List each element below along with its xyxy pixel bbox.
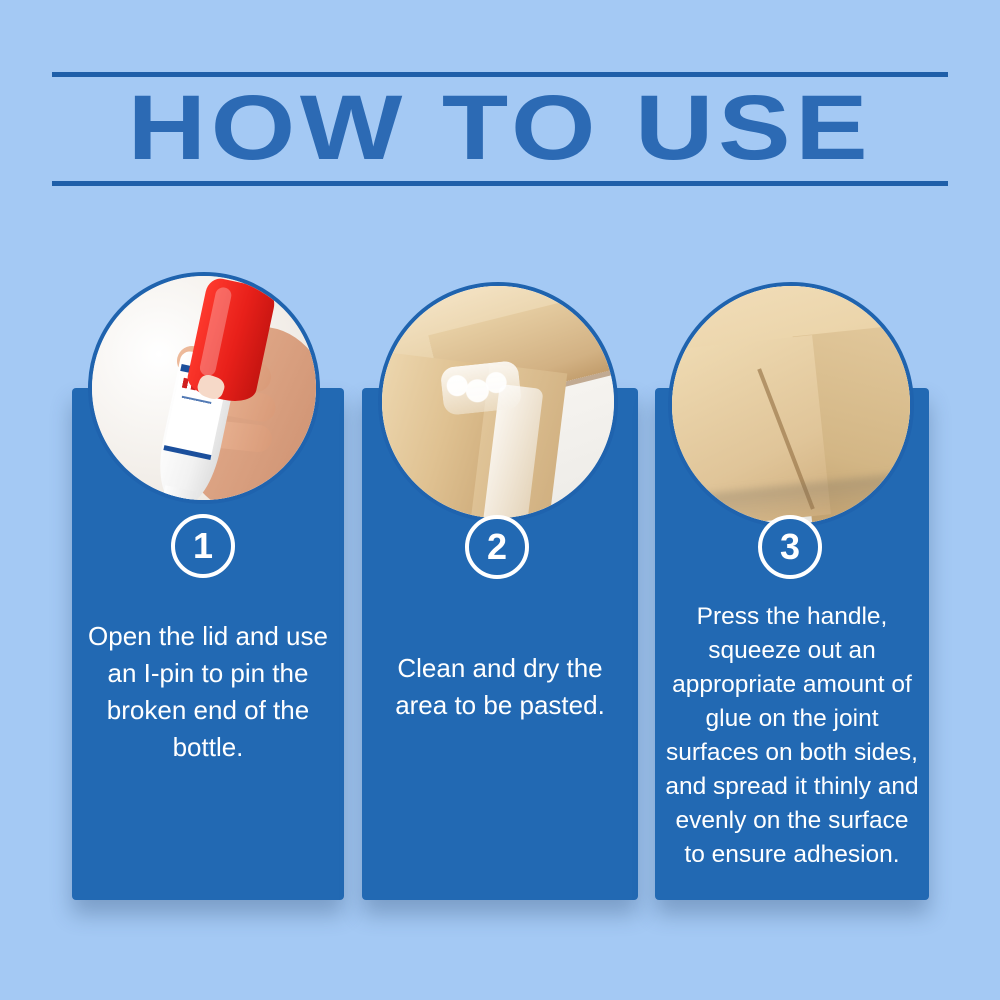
step-3-number: 3 [780,526,800,568]
step-1-text: Open the lid and use an I-pin to pin the… [72,618,344,766]
step-badge-2: 2 [465,515,529,579]
step-2-number: 2 [487,526,507,568]
step-badge-1: 1 [171,514,235,578]
wood-joint-with-glue-photo [378,282,618,522]
hand-holding-glue-bottle-photo [88,272,320,504]
steps-container: Open the lid and use an I-pin to pin the… [0,0,1000,1000]
infographic-page: HOW TO USE Open the lid and use an I-pin… [0,0,1000,1000]
step-1-number: 1 [193,525,213,567]
step-3-text: Press the handle, squeeze out an appropr… [655,600,929,872]
step-badge-3: 3 [758,515,822,579]
glued-wood-corner-photo [668,282,914,528]
step-2-text: Clean and dry the area to be pasted. [362,650,638,724]
glue-bead-joint [440,360,523,416]
